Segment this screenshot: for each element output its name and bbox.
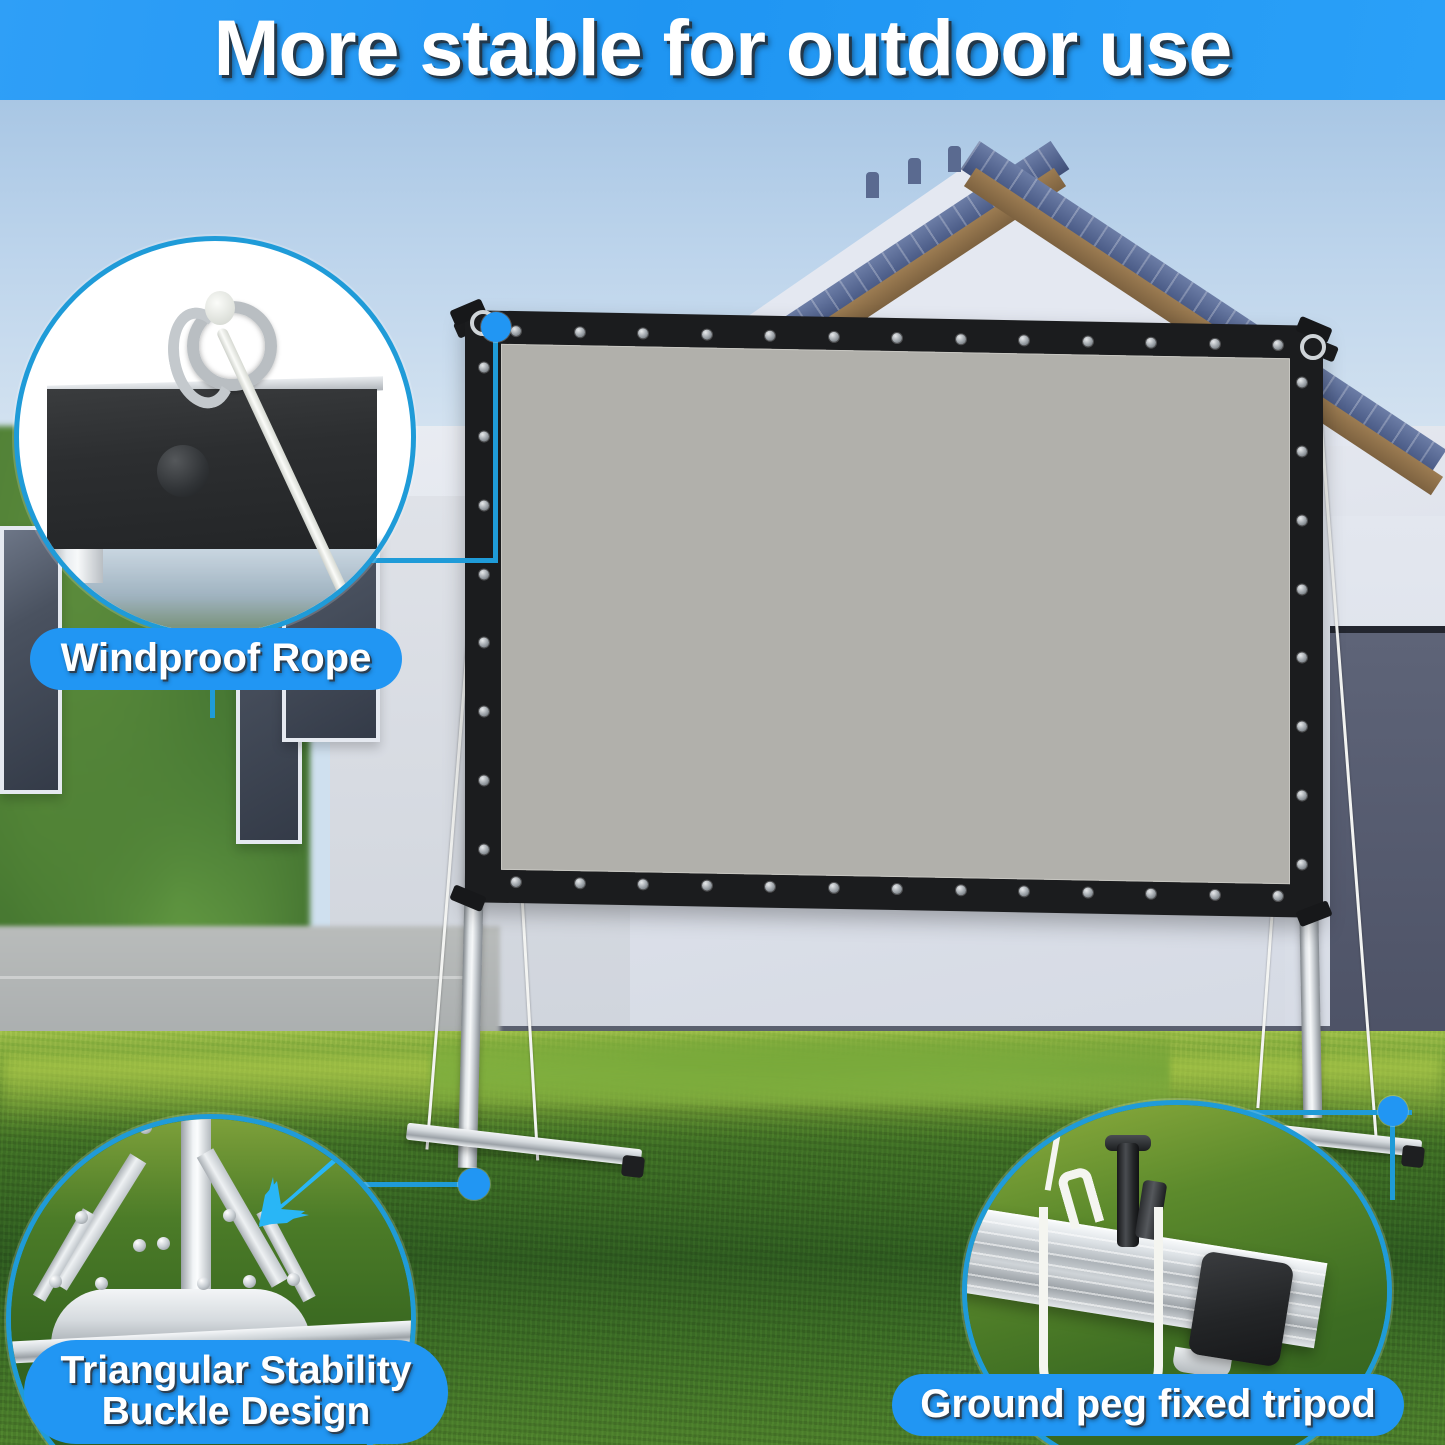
callout-inset-windproof-rope: [14, 236, 416, 638]
grommet: [479, 569, 489, 579]
grommet: [638, 879, 648, 889]
grommet: [1146, 889, 1156, 899]
label-windproof-rope-text: Windproof Rope: [61, 638, 372, 680]
rope-knot: [205, 291, 235, 325]
eye-ring-right: [1300, 334, 1326, 360]
rivet: [75, 1211, 88, 1224]
guy-rope: [1314, 350, 1378, 1148]
grommet: [829, 332, 839, 342]
grommet: [892, 884, 902, 894]
label-triangular-stability: Triangular Stability Buckle Design: [24, 1340, 448, 1444]
grommet: [1019, 886, 1029, 896]
rivet: [243, 1275, 256, 1288]
product-infographic: More stable for outdoor use Windproof Ro…: [0, 0, 1445, 1445]
grommet: [765, 882, 775, 892]
grommet: [479, 638, 489, 648]
grommet: [1146, 338, 1156, 348]
grommet: [575, 878, 585, 888]
grommet: [829, 883, 839, 893]
base-bar-left: [406, 1123, 642, 1167]
grommet: [638, 328, 648, 338]
base-brace: [492, 1094, 500, 1098]
grommet: [1083, 336, 1093, 346]
grommet: [1297, 446, 1307, 456]
callout-dot-windproof: [481, 312, 511, 342]
callout-line-windproof-riser: [493, 324, 498, 562]
grommet: [1297, 791, 1307, 801]
grommet: [892, 333, 902, 343]
grommet: [479, 776, 489, 786]
base-endcap: [1401, 1145, 1425, 1168]
grommet: [1273, 340, 1283, 350]
grommet: [575, 327, 585, 337]
grommet: [702, 329, 712, 339]
grommet: [956, 885, 966, 895]
label-ground-peg: Ground peg fixed tripod: [892, 1374, 1404, 1436]
grommet: [1019, 335, 1029, 345]
rivet: [157, 1237, 170, 1250]
rivet: [139, 1121, 152, 1134]
base-brace: [1278, 1092, 1286, 1096]
grommet: [1297, 377, 1307, 387]
grommet: [479, 707, 489, 717]
callout-dot-triangular: [458, 1168, 490, 1200]
pointer-arrow-icon: [247, 1137, 363, 1233]
rivet: [49, 1275, 62, 1288]
grommet: [1297, 515, 1307, 525]
grommet: [1297, 859, 1307, 869]
grommet: [511, 877, 521, 887]
rivet: [223, 1209, 236, 1222]
grommet: [479, 844, 489, 854]
rivet: [133, 1239, 146, 1252]
grommet: [479, 431, 489, 441]
label-triangular-line-2: Buckle Design: [60, 1392, 411, 1433]
black-end-cap: [1187, 1250, 1294, 1367]
label-triangular-stability-lines: Triangular Stability Buckle Design: [60, 1351, 411, 1432]
grommet: [1210, 339, 1220, 349]
grommet: [1083, 887, 1093, 897]
screen-border: [465, 310, 1323, 918]
grommet: [1297, 584, 1307, 594]
banner-title: More stable for outdoor use: [0, 0, 1445, 100]
rivet: [287, 1273, 300, 1286]
grommet: [765, 331, 775, 341]
label-triangular-line-1: Triangular Stability: [60, 1351, 411, 1392]
grommet: [479, 362, 489, 372]
bracket-knob: [157, 445, 209, 497]
projection-surface: [501, 344, 1290, 884]
rivet: [95, 1277, 108, 1290]
grommet: [1273, 891, 1283, 901]
grommet: [956, 334, 966, 344]
rivet: [197, 1277, 210, 1290]
grommet: [1297, 722, 1307, 732]
label-windproof-rope: Windproof Rope: [30, 628, 402, 690]
base-endcap: [621, 1155, 645, 1178]
black-corner-bracket: [47, 389, 377, 549]
grommet: [479, 500, 489, 510]
grommet-set: [465, 310, 1323, 326]
grommet: [702, 880, 712, 890]
product-photo-scene: [0, 96, 1445, 1445]
label-ground-peg-text: Ground peg fixed tripod: [920, 1384, 1376, 1426]
grommet: [1210, 890, 1220, 900]
header-banner: More stable for outdoor use: [0, 0, 1445, 100]
grommet: [1297, 653, 1307, 663]
grommet: [511, 326, 521, 336]
